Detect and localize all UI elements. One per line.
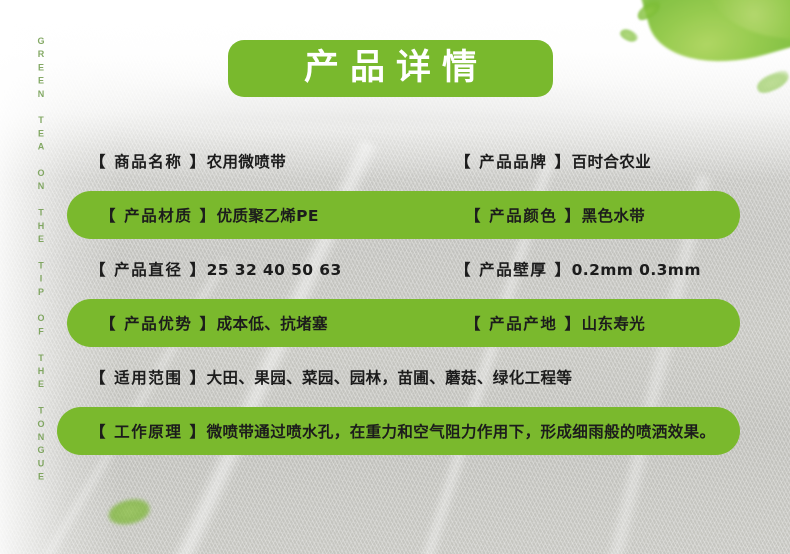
spec-cell: 【 适用范围 】大田、果园、菜园、园林，苗圃、蘑菇、绿化工程等 [90,366,572,388]
spec-row: 【 工作原理 】微喷带通过喷水孔，在重力和空气阻力作用下，形成细雨般的喷洒效果。 [0,404,790,458]
spec-label: 【 产品产地 】 [465,315,582,333]
spec-cell: 【 产品颜色 】黑色水带 [465,204,645,226]
spec-value: 优质聚乙烯PE [217,207,319,225]
spec-row: 【 商品名称 】农用微喷带 【 产品品牌 】百时合农业 [0,134,790,188]
spec-list: 【 商品名称 】农用微喷带 【 产品品牌 】百时合农业 【 产品材质 】优质聚乙… [0,134,790,458]
spec-row: 【 产品材质 】优质聚乙烯PE 【 产品颜色 】黑色水带 [0,188,790,242]
spec-value: 农用微喷带 [207,153,287,171]
spec-cell: 【 产品壁厚 】0.2mm 0.3mm [455,258,701,280]
spec-cell: 【 产品直径 】25 32 40 50 63 [90,258,455,280]
spec-row: 【 产品直径 】25 32 40 50 63 【 产品壁厚 】0.2mm 0.3… [0,242,790,296]
spec-cell: 【 商品名称 】农用微喷带 [90,150,455,172]
spec-value: 25 32 40 50 63 [207,261,342,279]
spec-label: 【 产品品牌 】 [455,153,572,171]
spec-value: 成本低、抗堵塞 [217,315,328,333]
spec-label: 【 产品优势 】 [100,315,217,333]
spec-cell: 【 产品材质 】优质聚乙烯PE [100,204,465,226]
spec-label: 【 产品直径 】 [90,261,207,279]
spec-cell: 【 工作原理 】微喷带通过喷水孔，在重力和空气阻力作用下，形成细雨般的喷洒效果。 [90,420,715,442]
spec-value: 微喷带通过喷水孔，在重力和空气阻力作用下，形成细雨般的喷洒效果。 [207,423,716,441]
spec-cell: 【 产品优势 】成本低、抗堵塞 [100,312,465,334]
spec-label: 【 工作原理 】 [90,423,207,441]
page-title: 产品详情 [293,51,488,86]
spec-value: 大田、果园、菜园、园林，苗圃、蘑菇、绿化工程等 [207,369,573,387]
spec-cell: 【 产品产地 】山东寿光 [465,312,645,334]
spec-row: 【 适用范围 】大田、果园、菜园、园林，苗圃、蘑菇、绿化工程等 [0,350,790,404]
spec-value: 黑色水带 [582,207,646,225]
spec-label: 【 商品名称 】 [90,153,207,171]
spec-value: 百时合农业 [572,153,652,171]
product-detail-page: GREEN TEA ON THE TIP OF THE TONGUE 产品详情 … [0,0,790,554]
spec-value: 0.2mm 0.3mm [572,261,701,279]
spec-value: 山东寿光 [582,315,646,333]
spec-label: 【 适用范围 】 [90,369,207,387]
spec-row: 【 产品优势 】成本低、抗堵塞 【 产品产地 】山东寿光 [0,296,790,350]
spec-cell: 【 产品品牌 】百时合农业 [455,150,651,172]
page-title-banner: 产品详情 [228,40,553,97]
spec-label: 【 产品材质 】 [100,207,217,225]
spec-label: 【 产品壁厚 】 [455,261,572,279]
spec-label: 【 产品颜色 】 [465,207,582,225]
